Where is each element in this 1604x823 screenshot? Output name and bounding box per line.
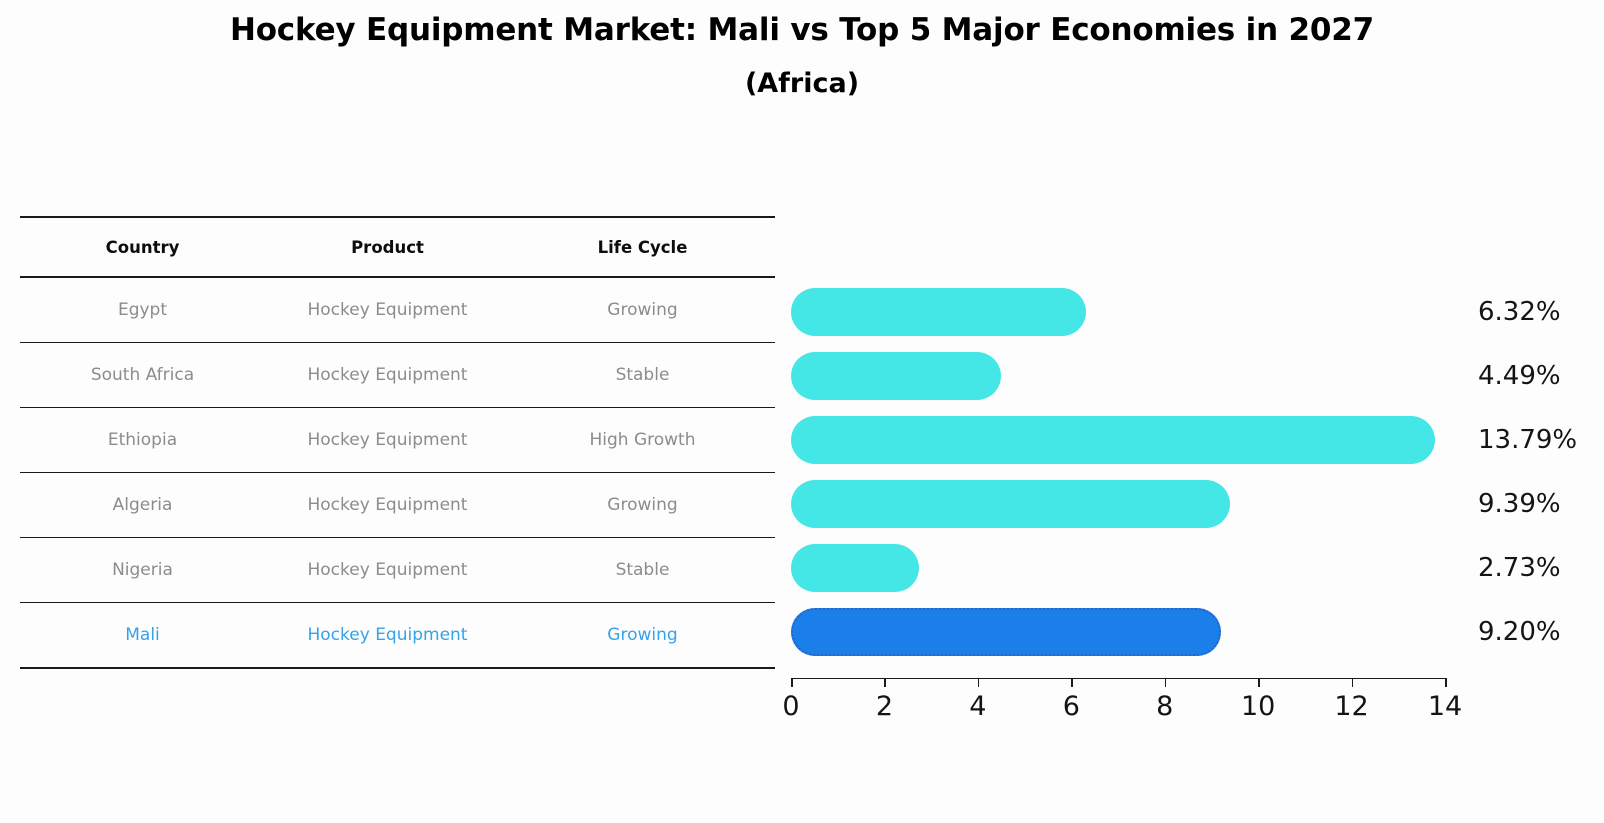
cell-product: Hockey Equipment xyxy=(265,365,510,385)
bar-row: 13.79% xyxy=(791,408,1445,472)
bar[interactable] xyxy=(791,352,1001,400)
comparison-table: Country Product Life Cycle Egypt Hockey … xyxy=(20,216,775,669)
cell-country: Egypt xyxy=(20,300,265,320)
bar-row: 2.73% xyxy=(791,536,1445,600)
bar-highlighted[interactable] xyxy=(791,608,1221,656)
cell-country: Nigeria xyxy=(20,560,265,580)
cell-product: Hockey Equipment xyxy=(265,430,510,450)
table-bottom-rule xyxy=(20,667,775,669)
bar-row: 4.49% xyxy=(791,344,1445,408)
bar[interactable] xyxy=(791,416,1435,464)
table-row[interactable]: South Africa Hockey Equipment Stable xyxy=(20,343,775,407)
cell-product: Hockey Equipment xyxy=(265,625,510,645)
table-row[interactable]: Nigeria Hockey Equipment Stable xyxy=(20,538,775,602)
x-axis-tick-label: 6 xyxy=(1063,691,1080,722)
bar-value-label: 4.49% xyxy=(1478,361,1561,391)
x-axis-tick xyxy=(884,678,886,687)
cell-life-cycle: Stable xyxy=(510,365,775,385)
cell-country: Ethiopia xyxy=(20,430,265,450)
bar-row: 6.32% xyxy=(791,280,1445,344)
x-axis-tick-label: 8 xyxy=(1156,691,1173,722)
table-row[interactable]: Algeria Hockey Equipment Growing xyxy=(20,473,775,537)
x-axis-tick xyxy=(791,678,793,687)
bar-row: 9.20% xyxy=(791,600,1445,664)
x-axis-tick-label: 0 xyxy=(782,691,799,722)
cell-country: South Africa xyxy=(20,365,265,385)
cell-product: Hockey Equipment xyxy=(265,560,510,580)
table-row[interactable]: Ethiopia Hockey Equipment High Growth xyxy=(20,408,775,472)
cell-life-cycle: Growing xyxy=(510,300,775,320)
cell-life-cycle: Growing xyxy=(510,495,775,515)
x-axis-tick xyxy=(1445,678,1447,687)
cell-country: Mali xyxy=(20,625,265,645)
cell-country: Algeria xyxy=(20,495,265,515)
x-axis-tick xyxy=(1071,678,1073,687)
x-axis-tick xyxy=(1258,678,1260,687)
x-axis-tick-label: 10 xyxy=(1241,691,1275,722)
cell-product: Hockey Equipment xyxy=(265,300,510,320)
page-title: Hockey Equipment Market: Mali vs Top 5 M… xyxy=(0,10,1604,102)
cell-life-cycle: Stable xyxy=(510,560,775,580)
x-axis-tick-label: 12 xyxy=(1334,691,1368,722)
bar[interactable] xyxy=(791,480,1230,528)
bar-value-label: 2.73% xyxy=(1478,553,1561,583)
cell-product: Hockey Equipment xyxy=(265,495,510,515)
table-row[interactable]: Egypt Hockey Equipment Growing xyxy=(20,278,775,342)
chart-title-line-1: Hockey Equipment Market: Mali vs Top 5 M… xyxy=(0,10,1604,52)
table-header-row: Country Product Life Cycle xyxy=(20,218,775,276)
x-axis: 02468101214 xyxy=(791,678,1445,679)
column-header-product: Product xyxy=(265,238,510,257)
x-axis-tick xyxy=(978,678,980,687)
table-row-highlighted[interactable]: Mali Hockey Equipment Growing xyxy=(20,603,775,667)
column-header-country: Country xyxy=(20,238,265,257)
x-axis-tick xyxy=(1352,678,1354,687)
bar-value-label: 9.39% xyxy=(1478,489,1561,519)
bar-row: 9.39% xyxy=(791,472,1445,536)
x-axis-tick-label: 14 xyxy=(1428,691,1462,722)
x-axis-tick xyxy=(1165,678,1167,687)
bar-value-label: 13.79% xyxy=(1478,425,1577,455)
x-axis-tick-label: 4 xyxy=(969,691,986,722)
cell-life-cycle: Growing xyxy=(510,625,775,645)
bar-value-label: 9.20% xyxy=(1478,617,1561,647)
column-header-life-cycle: Life Cycle xyxy=(510,238,775,257)
x-axis-tick-label: 2 xyxy=(876,691,893,722)
bar-value-label: 6.32% xyxy=(1478,297,1561,327)
bar[interactable] xyxy=(791,288,1086,336)
bar[interactable] xyxy=(791,544,919,592)
cell-life-cycle: High Growth xyxy=(510,430,775,450)
plot-area: 6.32%4.49%13.79%9.39%2.73%9.20% xyxy=(791,280,1445,678)
chart-title-line-2: (Africa) xyxy=(0,66,1604,102)
